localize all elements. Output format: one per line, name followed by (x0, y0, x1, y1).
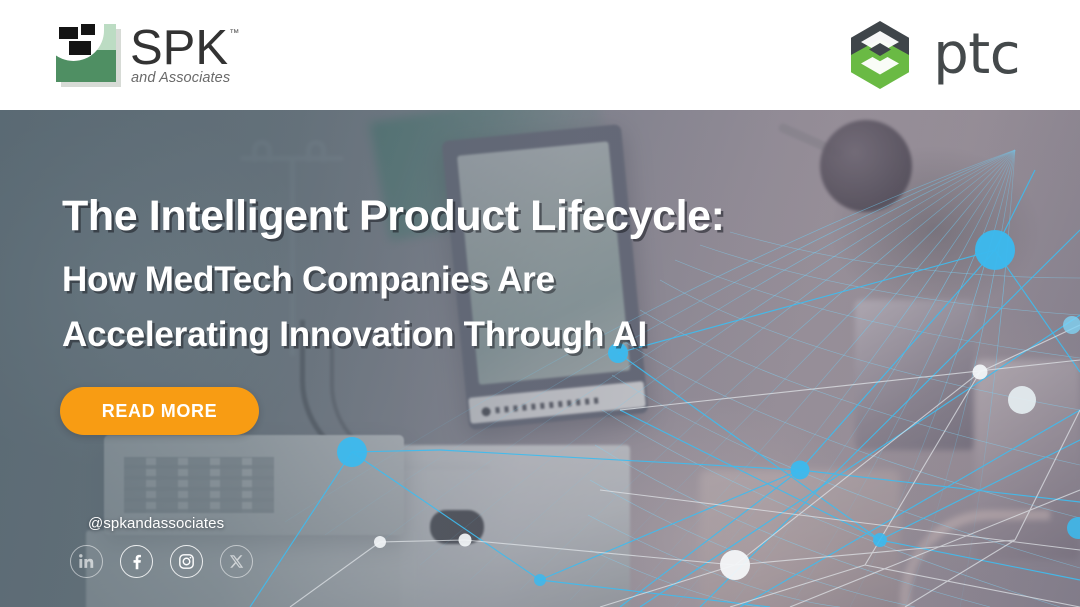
instagram-icon (178, 553, 195, 570)
headline-line-2: How MedTech Companies Are (62, 262, 962, 297)
facebook-icon (128, 553, 145, 570)
promo-banner: SPK ™ and Associates ptc (0, 0, 1080, 607)
hero-banner: The Intelligent Product Lifecycle: How M… (0, 110, 1080, 607)
ptc-hexagon-logo-icon (847, 19, 913, 91)
site-header: SPK ™ and Associates ptc (0, 0, 1080, 110)
social-handle: @spkandassociates (88, 515, 253, 532)
social-block: @spkandassociates (88, 515, 253, 578)
trademark-symbol: ™ (229, 28, 239, 39)
headline-line-1: The Intelligent Product Lifecycle: (62, 195, 962, 238)
spk-logo[interactable]: SPK ™ and Associates (55, 23, 230, 87)
linkedin-icon (78, 553, 95, 570)
ptc-wordmark: ptc (933, 27, 1020, 83)
ptc-logo[interactable]: ptc (847, 19, 1020, 91)
x-twitter-icon (229, 554, 244, 569)
spk-logo-mark-icon (55, 23, 121, 87)
headline-line-3: Accelerating Innovation Through AI (62, 317, 962, 352)
spk-tagline: and Associates (130, 70, 230, 86)
read-more-button[interactable]: READ MORE (60, 387, 259, 435)
social-link-instagram[interactable] (170, 545, 203, 578)
hero-headline: The Intelligent Product Lifecycle: How M… (62, 195, 962, 352)
spk-wordmark: SPK ™ and Associates (130, 24, 230, 86)
social-link-linkedin[interactable] (70, 545, 103, 578)
social-link-x-twitter[interactable] (220, 545, 253, 578)
social-links (70, 545, 253, 578)
social-link-facebook[interactable] (120, 545, 153, 578)
spk-name: SPK (130, 26, 230, 72)
